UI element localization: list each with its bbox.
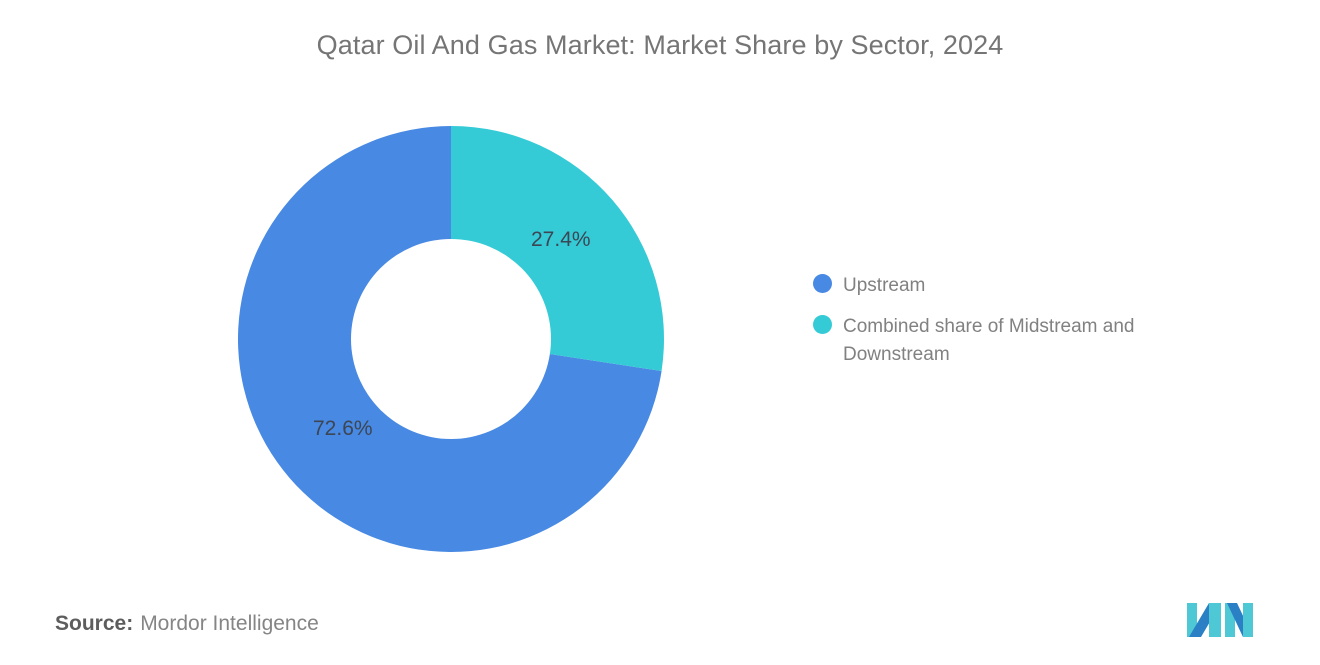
page-title: Qatar Oil And Gas Market: Market Share b… <box>0 30 1320 61</box>
slice-value-label-upstream: 72.6% <box>313 417 373 441</box>
mordor-intelligence-logo-svg <box>1185 599 1255 637</box>
legend-label-midstream-downstream: Combined share of Midstream and Downstre… <box>843 313 1195 369</box>
legend-item-midstream-downstream[interactable]: Combined share of Midstream and Downstre… <box>813 313 1213 369</box>
slice-value-label-midstream-downstream: 27.4% <box>531 228 591 252</box>
donut-chart-svg <box>238 126 664 552</box>
source-label: Source: <box>55 612 133 635</box>
mordor-intelligence-logo-icon <box>1185 599 1255 637</box>
legend-swatch-upstream <box>813 274 832 293</box>
legend-item-upstream[interactable]: Upstream <box>813 272 1213 300</box>
chart-legend: Upstream Combined share of Midstream and… <box>813 272 1213 382</box>
donut-center-hole <box>351 239 551 439</box>
source-value: Mordor Intelligence <box>140 612 319 635</box>
donut-chart <box>238 126 664 552</box>
source-footer: Source:Mordor Intelligence <box>55 612 319 636</box>
legend-label-upstream: Upstream <box>843 272 925 300</box>
legend-swatch-midstream-downstream <box>813 315 832 334</box>
